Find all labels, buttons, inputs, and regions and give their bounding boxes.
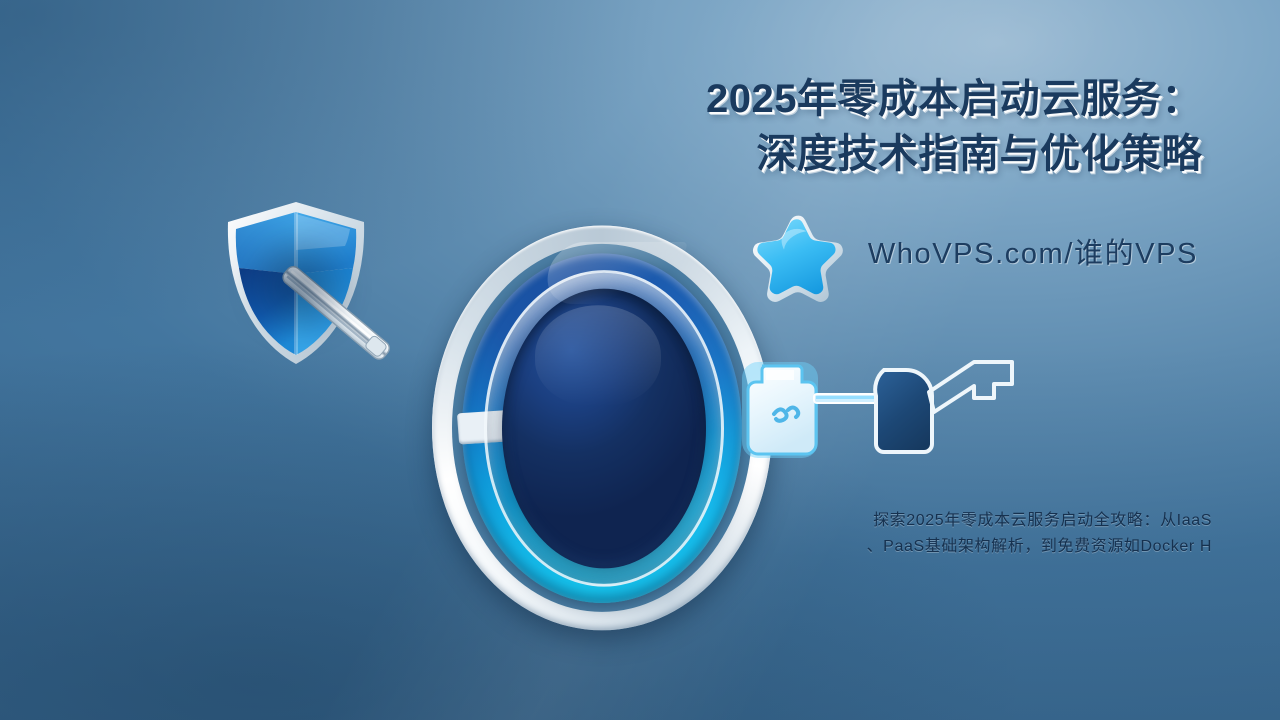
shield-graphic — [214, 188, 414, 378]
key-icon — [875, 370, 932, 452]
dial-core-gloss — [535, 305, 661, 406]
key-bit-icon — [929, 362, 1012, 412]
lock-key-graphic — [736, 352, 1016, 478]
star-icon — [746, 204, 850, 308]
lock-key-icon — [736, 352, 1016, 478]
poster-canvas: 2025年零成本启动云服务： 深度技术指南与优化策略 WhoVPS.com/谁的… — [0, 0, 1280, 720]
brand-label: WhoVPS.com/谁的VPS — [868, 230, 1198, 272]
circular-dial-graphic — [428, 206, 776, 654]
dial-core — [502, 289, 706, 569]
description-text: 探索2025年零成本云服务启动全攻略：从IaaS 、PaaS基础架构解析，到免费… — [812, 508, 1212, 560]
shield-shadow — [220, 206, 380, 366]
star-graphic — [746, 204, 850, 308]
page-title: 2025年零成本启动云服务： 深度技术指南与优化策略 — [582, 72, 1202, 182]
